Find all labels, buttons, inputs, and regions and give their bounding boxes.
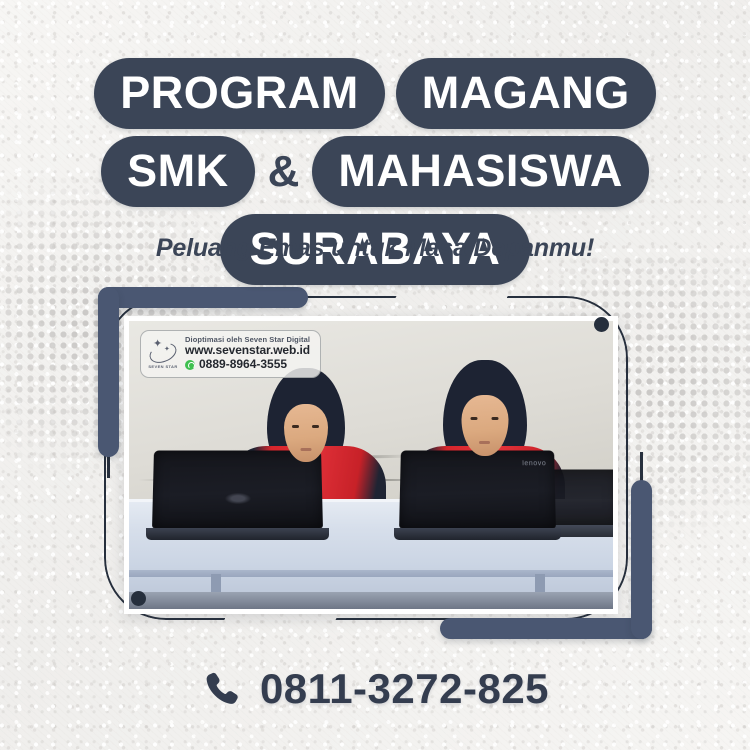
headline-line-1: PROGRAM MAGANG bbox=[94, 58, 655, 129]
watermark-whatsapp-row: 0889-8964-3555 bbox=[185, 358, 310, 372]
corner-bracket-bottom-right-horizontal bbox=[440, 618, 652, 639]
eye-left bbox=[292, 425, 299, 428]
eye-right bbox=[492, 417, 499, 420]
logo-orbit-ring bbox=[147, 340, 180, 367]
headline-pill-mahasiswa: MAHASISWA bbox=[312, 136, 649, 207]
footer-contact: 0811-3272-825 bbox=[0, 668, 750, 710]
eye-right bbox=[312, 425, 319, 428]
headline-pill-magang: MAGANG bbox=[396, 58, 656, 129]
phone-icon bbox=[201, 669, 241, 709]
dot-accent-bottom-left bbox=[131, 591, 146, 606]
floor-strip bbox=[129, 592, 613, 609]
watermark-phone: 0889-8964-3555 bbox=[199, 358, 287, 372]
laptop-brand-label: lenovo bbox=[522, 460, 546, 467]
laptop-base bbox=[394, 528, 561, 540]
whatsapp-icon bbox=[185, 360, 195, 370]
seven-star-logo-icon: ✦ ✦ SEVEN STAR bbox=[148, 338, 178, 368]
watermark-website: www.sevenstar.web.id bbox=[185, 344, 310, 358]
laptop-lid: lenovo bbox=[399, 450, 556, 528]
laptop-lid bbox=[152, 450, 323, 528]
photo-frame: lenovo ✦ ✦ SEVEN STAR Dioptimasi oleh Se… bbox=[124, 316, 618, 614]
laptop-left bbox=[153, 450, 322, 540]
headline-pill-smk: SMK bbox=[101, 136, 255, 207]
tagline-text: Peluang Emas untuk Masa Depanmu! bbox=[0, 234, 750, 263]
corner-bracket-bottom-right-vertical bbox=[631, 480, 652, 639]
mouth bbox=[300, 448, 311, 451]
poster-canvas: PROGRAM MAGANG SMK & MAHASISWA SURABAYA … bbox=[0, 0, 750, 750]
corner-bracket-top-left-horizontal bbox=[98, 287, 308, 308]
laptop-right: lenovo bbox=[400, 450, 555, 540]
logo-star-small-icon: ✦ bbox=[164, 345, 170, 353]
headline-line-2: SMK & MAHASISWA bbox=[101, 136, 649, 207]
mouth bbox=[479, 441, 490, 444]
logo-star-icon: ✦ bbox=[153, 339, 162, 350]
watermark-text-lines: Dioptimasi oleh Seven Star Digital www.s… bbox=[185, 335, 310, 372]
eye-left bbox=[471, 417, 478, 420]
photo-image: lenovo ✦ ✦ SEVEN STAR Dioptimasi oleh Se… bbox=[129, 321, 613, 609]
corner-bracket-top-left-vertical bbox=[98, 287, 119, 457]
logo-caption: SEVEN STAR bbox=[148, 364, 177, 369]
thin-frame-stub-right bbox=[640, 452, 643, 482]
headline-ampersand: & bbox=[266, 150, 302, 194]
watermark-badge: ✦ ✦ SEVEN STAR Dioptimasi oleh Seven Sta… bbox=[140, 330, 321, 378]
footer-phone-number: 0811-3272-825 bbox=[260, 668, 549, 710]
headline-pill-program: PROGRAM bbox=[94, 58, 385, 129]
laptop-logo-icon bbox=[223, 492, 253, 505]
laptop-base bbox=[146, 528, 329, 540]
dot-accent-top-right bbox=[594, 317, 609, 332]
